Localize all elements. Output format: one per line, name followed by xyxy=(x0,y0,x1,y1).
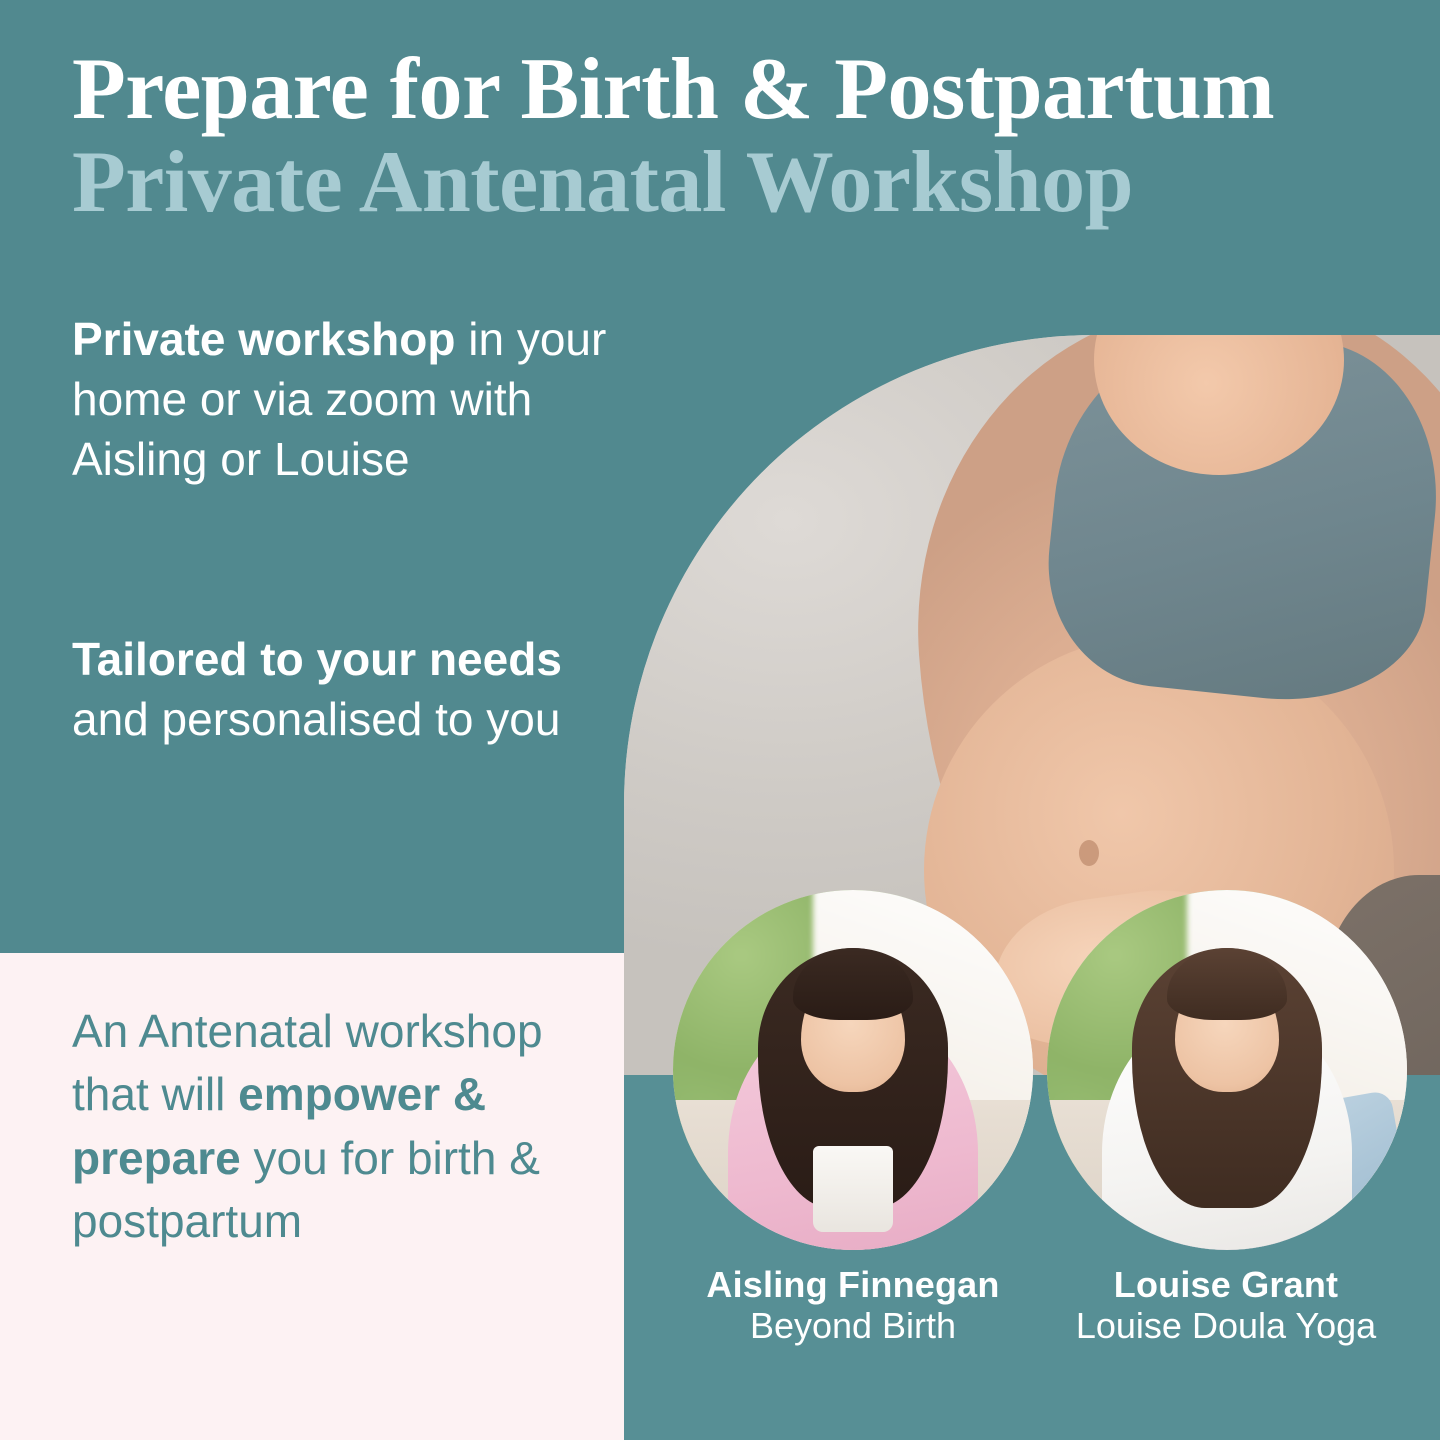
poster-canvas: Prepare for Birth & Postpartum Private A… xyxy=(0,0,1440,1440)
headline-line-1: Prepare for Birth & Postpartum xyxy=(72,46,1402,134)
feature-private-workshop: Private workshop in your home or via zoo… xyxy=(72,310,612,489)
avatar-mug xyxy=(813,1146,893,1232)
presenter-caption-louise: Louise Grant Louise Doula Yoga xyxy=(1026,1265,1426,1348)
avatar-louise-grant xyxy=(1047,890,1407,1250)
headline-line-2: Private Antenatal Workshop xyxy=(72,134,1402,233)
feature-tailored: Tailored to your needs and personalised … xyxy=(72,630,612,750)
feature-tailored-text: and personalised to you xyxy=(72,693,560,745)
feature-tailored-second: your needs xyxy=(317,633,562,685)
photo-navel xyxy=(1079,840,1099,866)
presenter-caption-aisling: Aisling Finnegan Beyond Birth xyxy=(653,1265,1053,1348)
pink-panel-description: An Antenatal workshop that will empower … xyxy=(72,1000,572,1254)
feature-tailored-lead: Tailored to xyxy=(72,633,304,685)
presenter-role: Beyond Birth xyxy=(653,1305,1053,1347)
poster-headline: Prepare for Birth & Postpartum Private A… xyxy=(72,46,1402,233)
feature-private-workshop-lead: Private workshop xyxy=(72,313,455,365)
presenter-name: Louise Grant xyxy=(1026,1265,1426,1305)
presenter-role: Louise Doula Yoga xyxy=(1026,1305,1426,1347)
avatar-aisling-finnegan xyxy=(673,890,1033,1250)
presenter-name: Aisling Finnegan xyxy=(653,1265,1053,1305)
